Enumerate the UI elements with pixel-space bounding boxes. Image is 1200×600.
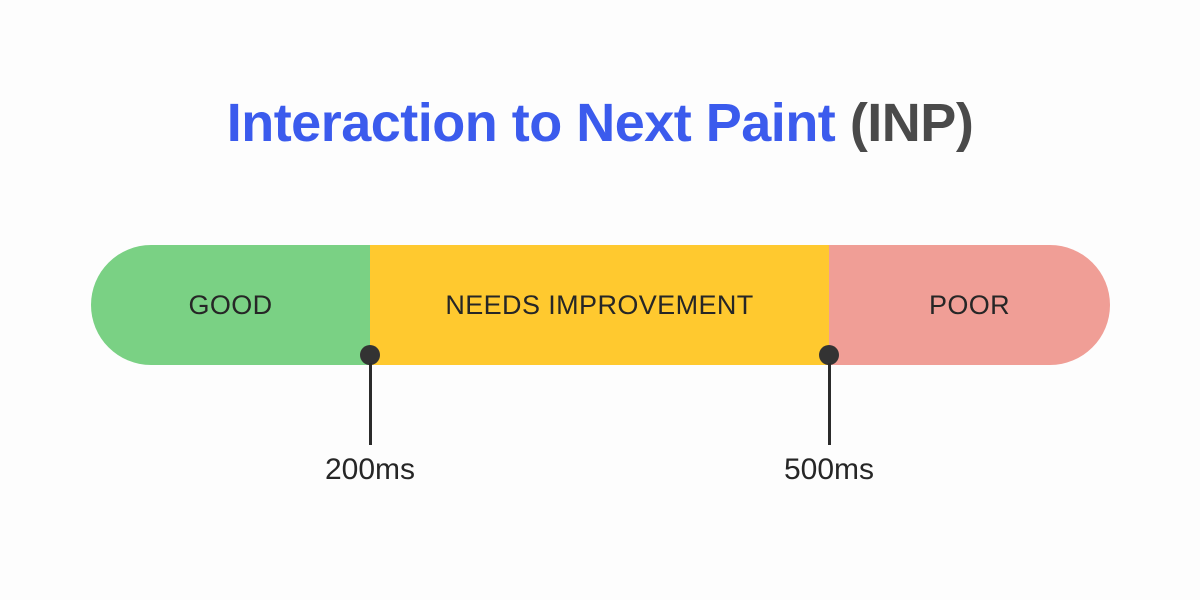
bar-segment-good-label: GOOD [188, 290, 272, 321]
bar-segment-poor-label: POOR [929, 290, 1010, 321]
bar-segment-good: GOOD [91, 245, 370, 365]
threshold-label-500ms: 500ms [729, 453, 929, 487]
threshold-label-200ms: 200ms [270, 453, 470, 487]
metric-abbreviation: (INP) [850, 93, 973, 153]
threshold-leader-line [828, 363, 831, 445]
threshold-dot-icon [819, 345, 839, 365]
bar-segment-needs-improvement: NEEDS IMPROVEMENT [370, 245, 829, 365]
threshold-dot-icon [360, 345, 380, 365]
infographic-canvas: Interaction to Next Paint (INP) GOOD NEE… [0, 0, 1200, 600]
threshold-bar: GOOD NEEDS IMPROVEMENT POOR [91, 245, 1110, 365]
metric-name: Interaction to Next Paint [227, 93, 836, 153]
bar-segment-needs-improvement-label: NEEDS IMPROVEMENT [445, 290, 753, 321]
page-title: Interaction to Next Paint (INP) [0, 92, 1200, 154]
bar-segment-poor: POOR [829, 245, 1110, 365]
threshold-leader-line [369, 363, 372, 445]
